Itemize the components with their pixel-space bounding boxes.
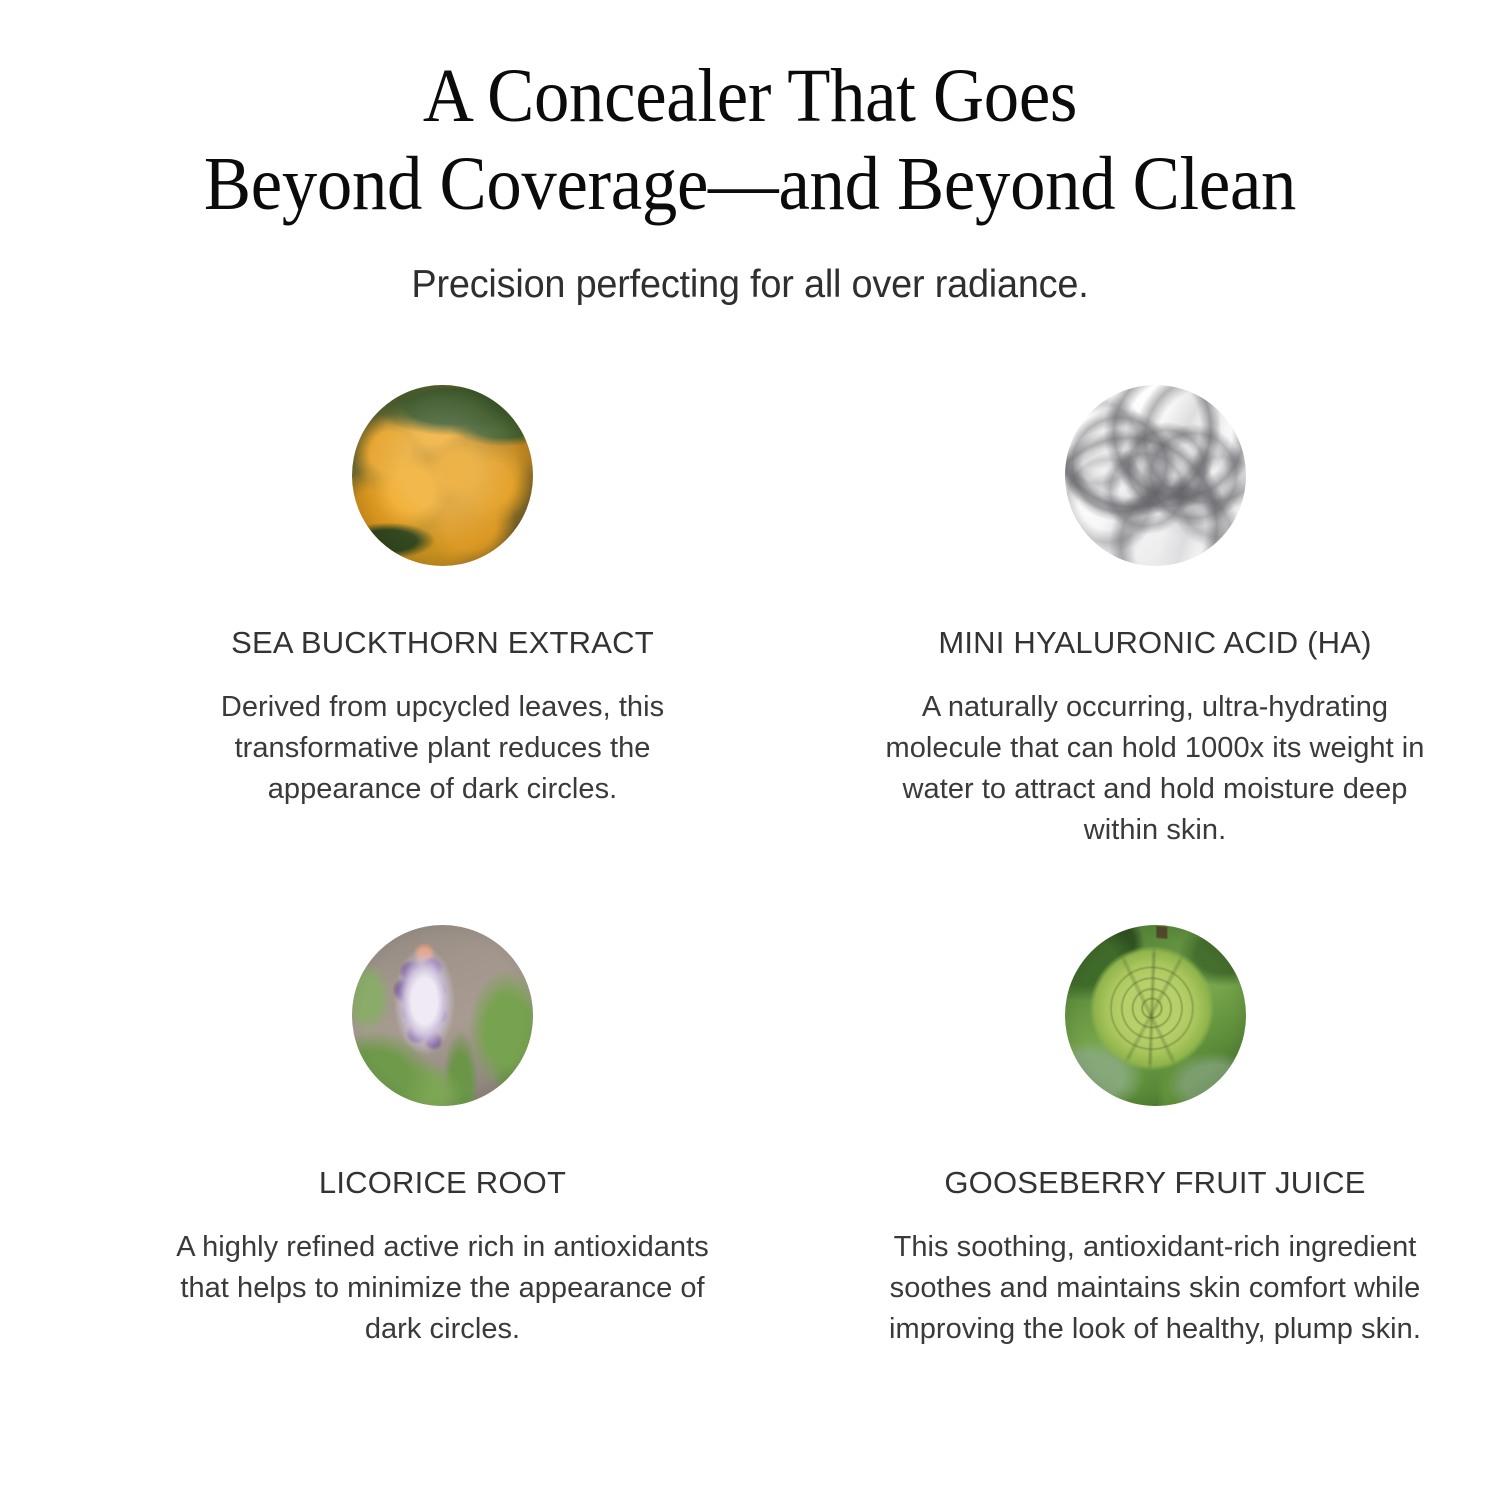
vignette-shading bbox=[352, 925, 533, 1106]
ingredient-card-sea-buckthorn: SEA BUCKTHORN EXTRACT Derived from upcyc… bbox=[0, 385, 750, 925]
ingredient-description: Derived from upcycled leaves, this trans… bbox=[163, 687, 723, 810]
ingredient-title: LICORICE ROOT bbox=[319, 1164, 566, 1201]
ingredient-title: MINI HYALURONIC ACID (HA) bbox=[938, 624, 1371, 661]
page-subtitle: Precision perfecting for all over radian… bbox=[23, 262, 1478, 309]
page-header: A Concealer That Goes Beyond Coverage—an… bbox=[0, 52, 1500, 309]
ingredient-grid: SEA BUCKTHORN EXTRACT Derived from upcyc… bbox=[0, 385, 1500, 1465]
page-title-line-2: Beyond Coverage—and Beyond Clean bbox=[53, 140, 1448, 228]
ingredient-description: A highly refined active rich in antioxid… bbox=[163, 1227, 723, 1350]
vignette-shading bbox=[1065, 925, 1246, 1106]
hyaluronic-acid-image bbox=[1065, 385, 1246, 566]
page-title: A Concealer That Goes Beyond Coverage—an… bbox=[53, 52, 1448, 228]
ingredient-benefits-page: A Concealer That Goes Beyond Coverage—an… bbox=[0, 0, 1500, 1500]
ingredient-title: SEA BUCKTHORN EXTRACT bbox=[231, 624, 654, 661]
gooseberry-image bbox=[1065, 925, 1246, 1106]
ingredient-title: GOOSEBERRY FRUIT JUICE bbox=[944, 1164, 1365, 1201]
ingredient-card-hyaluronic-acid: MINI HYALURONIC ACID (HA) A naturally oc… bbox=[750, 385, 1500, 925]
vignette-shading bbox=[352, 385, 533, 566]
ingredient-description: A naturally occurring, ultra-hydrating m… bbox=[875, 687, 1435, 851]
ingredient-card-licorice-root: LICORICE ROOT A highly refined active ri… bbox=[0, 925, 750, 1465]
gel-bubbles-detail bbox=[1065, 385, 1246, 566]
licorice-root-image bbox=[352, 925, 533, 1106]
ingredient-description: This soothing, antioxidant-rich ingredie… bbox=[875, 1227, 1435, 1350]
ingredient-card-gooseberry: GOOSEBERRY FRUIT JUICE This soothing, an… bbox=[750, 925, 1500, 1465]
sea-buckthorn-image bbox=[352, 385, 533, 566]
page-title-line-1: A Concealer That Goes bbox=[423, 54, 1077, 138]
